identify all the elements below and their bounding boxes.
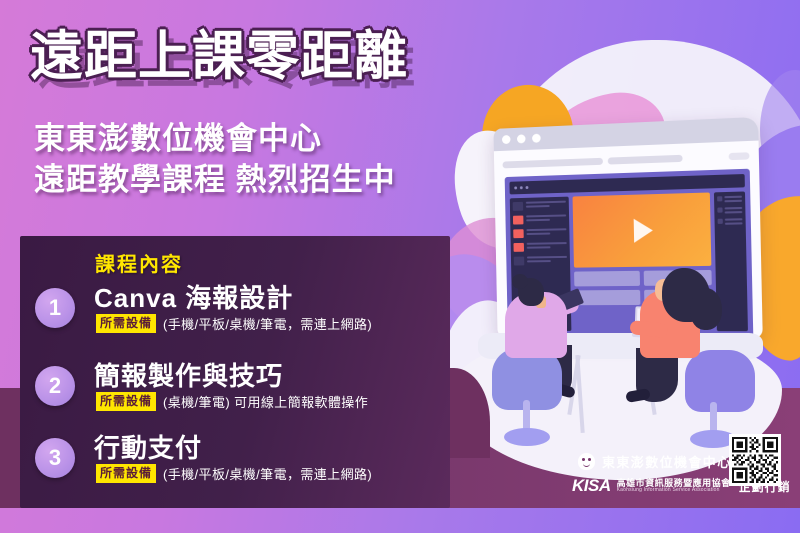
address-placeholder [502,157,602,168]
footer-brand: 東東澎數位機會中心 [578,452,732,471]
poster-headline: 遠距上課零距離 [30,28,408,85]
chair-base [504,428,550,446]
course-title: Canva 海報設計 [94,278,293,315]
course-title: 行動支付 [94,428,202,465]
course-title: 簡報製作與技巧 [94,356,283,393]
browser-address-bar [502,147,749,172]
poster-subtitle: 東東澎數位機會中心 遠距教學課程 熱烈招生中 [34,118,396,200]
video-thumbnail [573,192,712,267]
playlist-item [513,228,566,238]
playlist-item [513,242,566,252]
person-left-hair-bun [512,274,528,289]
playlist-item [514,256,567,266]
kisa-name-english: Kaohsiung Information Service Associatio… [617,488,731,493]
requirement-text: (桌機/筆電) 可用線上簡報軟體操作 [163,392,368,411]
requirement-text: (手機/平板/桌機/筆電，需連上網路) [163,464,372,483]
subtitle-line-2: 遠距教學課程 熱烈招生中 [34,159,396,200]
course-item: 1 Canva 海報設計 所需設備 (手機/平板/桌機/筆電，需連上網路) [26,278,436,344]
smiley-face-icon [578,453,595,470]
qr-code-icon[interactable] [729,434,781,486]
address-action-placeholder [729,152,750,160]
course-requirements: 所需設備 (桌機/筆電) 可用線上簡報軟體操作 [96,392,368,411]
course-item: 3 行動支付 所需設備 (手機/平板/桌機/筆電，需連上網路) [26,428,436,494]
address-placeholder [608,154,683,164]
course-section-title: 課程內容 [95,248,183,277]
window-dot-icon [502,135,511,144]
course-requirements: 所需設備 (手機/平板/桌機/筆電，需連上網路) [96,464,372,483]
requirement-badge: 所需設備 [96,464,156,483]
person-right-hair-back [690,288,722,330]
requirement-badge: 所需設備 [96,314,156,333]
course-item: 2 簡報製作與技巧 所需設備 (桌機/筆電) 可用線上簡報軟體操作 [26,356,436,422]
kisa-logo: KISA [572,476,611,496]
chair-right [685,350,755,412]
course-number-badge: 2 [35,366,75,406]
playlist-item [513,201,566,211]
play-icon [634,218,653,242]
kisa-association-names: 高雄市資訊服務暨應用協會 Kaohsiung Information Servi… [617,479,731,494]
course-requirements: 所需設備 (手機/平板/桌機/筆電，需連上網路) [96,314,372,333]
course-number-badge: 3 [35,438,75,478]
requirement-text: (手機/平板/桌機/筆電，需連上網路) [163,314,372,333]
app-topbar [509,174,744,194]
playlist-item [513,214,566,224]
poster-canvas: 遠距上課零距離 東東澎數位機會中心 遠距教學課程 熱烈招生中 課程內容 1 Ca… [0,0,800,533]
brand-name: 東東澎數位機會中心 [602,452,732,471]
window-dot-icon [532,134,541,143]
window-dot-icon [517,134,526,143]
course-number-badge: 1 [35,288,75,328]
requirement-badge: 所需設備 [96,392,156,411]
subtitle-line-1: 東東澎數位機會中心 [34,118,396,159]
